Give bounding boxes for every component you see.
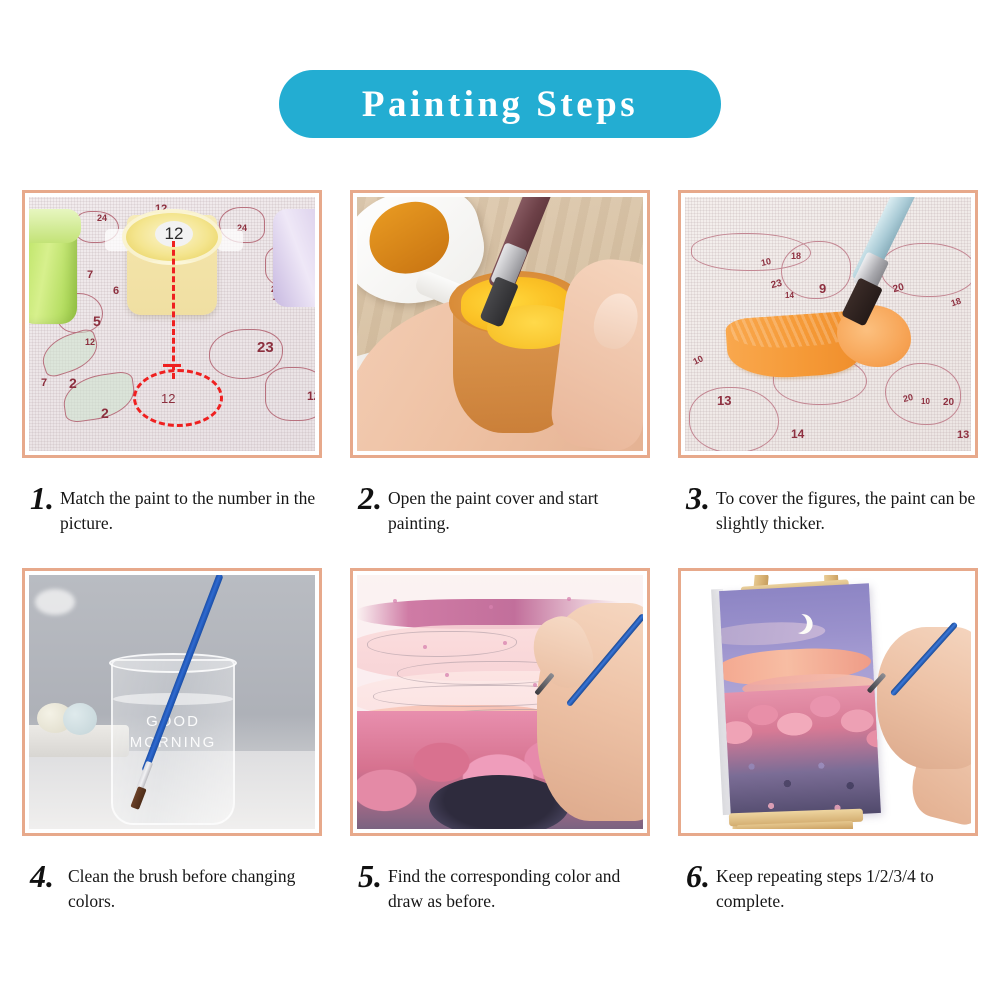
canvas-number: 7 <box>87 269 93 281</box>
canvas-number: 2 <box>101 405 109 421</box>
step-photo-frame-3: 10 18 23 14 9 20 18 20 13 10 20 14 20 10… <box>678 190 978 458</box>
step-number-4: 4. <box>30 860 54 892</box>
canvas-outline-shape <box>885 363 961 425</box>
step-cell-6: 6. Keep repeating steps 1/2/3/4 to compl… <box>678 568 978 914</box>
canvas-number: 14 <box>785 291 794 300</box>
step-photo-3: 10 18 23 14 9 20 18 20 13 10 20 14 20 10… <box>685 197 971 451</box>
glass-printed-text: GOOD MORNING <box>115 711 231 755</box>
outline-dot <box>445 673 449 677</box>
canvas-number: 23 <box>257 339 274 356</box>
outline-dot <box>489 605 493 609</box>
painted-blossom-details <box>719 684 881 821</box>
guide-dashed-ellipse <box>133 369 223 427</box>
outline-dot <box>503 641 507 645</box>
hand <box>877 627 971 769</box>
step-caption-3: 3. To cover the figures, the paint can b… <box>678 480 978 536</box>
step-photo-1: 12 24 2 24 7 6 5 12 2 7 2 23 23 24 12 <box>29 197 315 451</box>
canvas-number: 14 <box>791 427 804 441</box>
step-text-4: Clean the brush before changing colors. <box>60 858 322 914</box>
glass-rim <box>109 653 237 673</box>
outline-dot <box>567 597 571 601</box>
guide-crosshair <box>163 364 181 367</box>
step-text-1: Match the paint to the number in the pic… <box>60 480 322 536</box>
outline-dot <box>533 683 537 687</box>
step-photo-5 <box>357 575 643 829</box>
step-number-2: 2. <box>358 482 382 514</box>
canvas-number: 9 <box>819 281 826 296</box>
canvas-number: 7 <box>41 377 47 389</box>
step-text-6: Keep repeating steps 1/2/3/4 to complete… <box>716 858 978 914</box>
step-text-2: Open the paint cover and start painting. <box>388 480 650 536</box>
step-photo-frame-1: 12 24 2 24 7 6 5 12 2 7 2 23 23 24 12 <box>22 190 322 458</box>
canvas-number: 20 <box>943 397 954 408</box>
canvas-number: 6 <box>113 285 119 297</box>
step-caption-4: 4. Clean the brush before changing color… <box>22 858 322 914</box>
step-photo-6 <box>685 575 971 829</box>
step-number-6: 6. <box>686 860 710 892</box>
step-photo-frame-6 <box>678 568 978 836</box>
canvas-outline-shape <box>689 387 779 451</box>
painting-steps-infographic: Painting Steps 12 24 2 <box>0 0 1000 1000</box>
step-number-5: 5. <box>358 860 382 892</box>
step-cell-2: 2. Open the paint cover and start painti… <box>350 190 650 536</box>
step-caption-2: 2. Open the paint cover and start painti… <box>350 480 650 536</box>
page-title-container: Painting Steps <box>0 70 1000 138</box>
step-text-3: To cover the figures, the paint can be s… <box>716 480 978 536</box>
glass-text-line-1: GOOD <box>115 711 231 733</box>
step-caption-1: 1. Match the paint to the number in the … <box>22 480 322 536</box>
canvas-number: 2 <box>69 375 77 391</box>
canvas-number: 13 <box>957 429 969 441</box>
background-blur-object <box>35 589 75 615</box>
canvas-number: 10 <box>921 397 930 406</box>
canvas-number: 5 <box>93 313 101 329</box>
step-photo-frame-4: GOOD MORNING <box>22 568 322 836</box>
page-title: Painting Steps <box>362 83 638 126</box>
purple-paint-pot <box>273 209 315 307</box>
glass-text-line-2: MORNING <box>115 732 231 754</box>
canvas-number: 13 <box>717 393 731 408</box>
outline-dot <box>423 645 427 649</box>
canvas-number: 18 <box>791 251 801 261</box>
steps-grid: 12 24 2 24 7 6 5 12 2 7 2 23 23 24 12 <box>22 190 978 913</box>
step-photo-2 <box>357 197 643 451</box>
step-photo-4: GOOD MORNING <box>29 575 315 829</box>
painted-cloud <box>719 619 826 647</box>
step-caption-6: 6. Keep repeating steps 1/2/3/4 to compl… <box>678 858 978 914</box>
background-object <box>63 703 97 735</box>
step-caption-5: 5. Find the corresponding color and draw… <box>350 858 650 914</box>
green-paint-pot-lid <box>29 209 81 243</box>
step-photo-frame-5 <box>350 568 650 836</box>
finished-painting <box>719 583 881 821</box>
step-text-5: Find the corresponding color and draw as… <box>388 858 650 914</box>
canvas-number: 12 <box>85 337 95 347</box>
step-number-1: 1. <box>30 482 54 514</box>
step-cell-5: 5. Find the corresponding color and draw… <box>350 568 650 914</box>
step-photo-frame-2 <box>350 190 650 458</box>
canvas-number: 24 <box>97 213 107 223</box>
step-cell-3: 10 18 23 14 9 20 18 20 13 10 20 14 20 10… <box>678 190 978 536</box>
step-number-3: 3. <box>686 482 710 514</box>
page-title-pill: Painting Steps <box>279 70 721 138</box>
canvas-number: 10 <box>760 256 772 268</box>
guide-dashed-line <box>172 241 175 379</box>
outline-dot <box>393 599 397 603</box>
step-cell-4: GOOD MORNING 4. Clean the brush before c… <box>22 568 322 914</box>
step-cell-1: 12 24 2 24 7 6 5 12 2 7 2 23 23 24 12 <box>22 190 322 536</box>
canvas-number: 12 <box>307 389 315 403</box>
canvas-target-number: 12 <box>161 391 175 406</box>
